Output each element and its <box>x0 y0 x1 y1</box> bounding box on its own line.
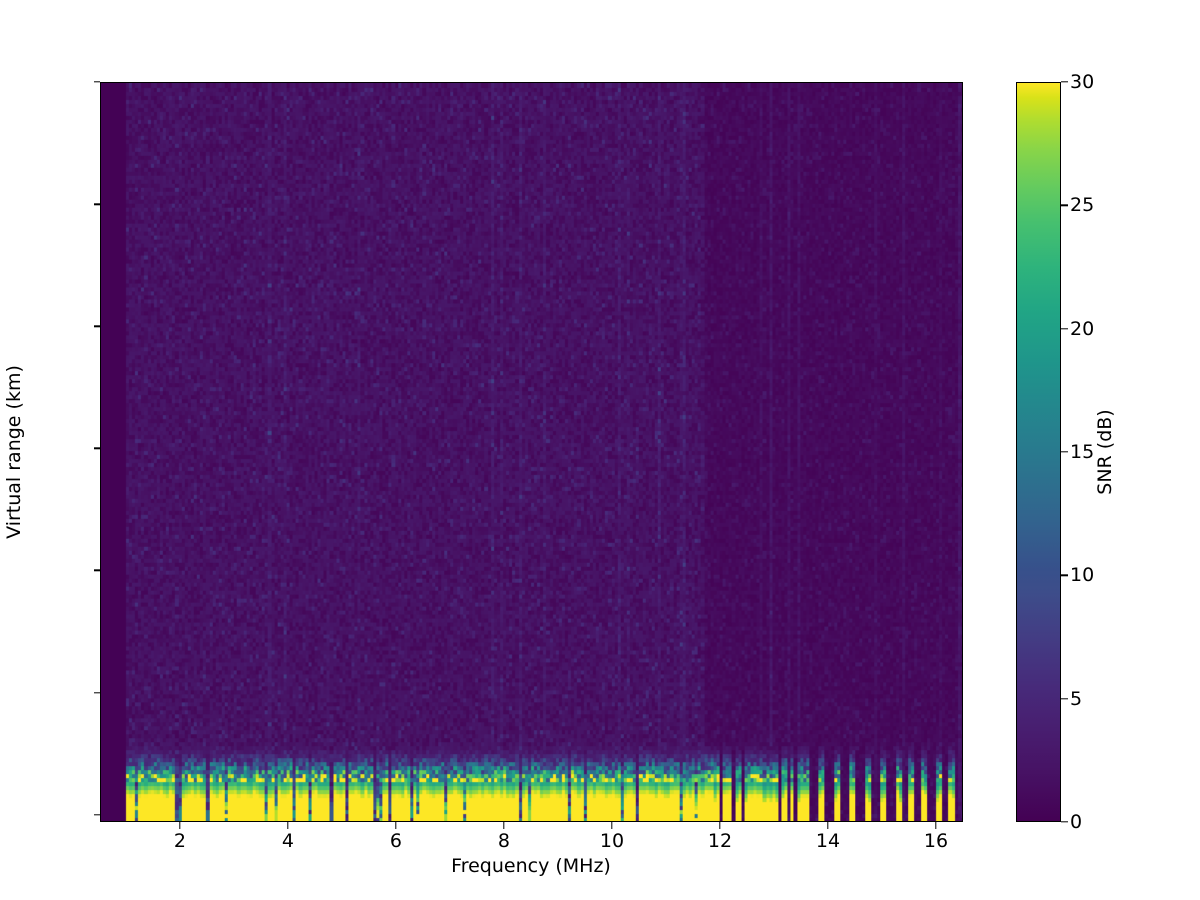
x-axis-label: Frequency (MHz) <box>451 855 611 877</box>
colorbar-tick-label-0: 0 <box>1070 811 1082 833</box>
x-tick-mark-16 <box>935 822 936 829</box>
colorbar-tick-label-30: 30 <box>1070 71 1094 93</box>
y-tick-mark-600 <box>94 81 101 82</box>
x-tick-mark-6 <box>395 822 396 829</box>
x-tick-label-4: 4 <box>282 830 294 852</box>
ionogram-heatmap-plot <box>100 82 963 822</box>
colorbar-tick-mark-30 <box>1061 81 1068 82</box>
x-tick-label-12: 12 <box>708 830 732 852</box>
colorbar-tick-mark-10 <box>1061 575 1068 576</box>
y-tick-mark-100 <box>94 692 101 693</box>
x-tick-label-14: 14 <box>816 830 840 852</box>
y-tick-mark-500 <box>94 203 101 204</box>
colorbar-tick-label-5: 5 <box>1070 688 1082 710</box>
colorbar-tick-mark-15 <box>1061 451 1068 452</box>
colorbar-tick-label-10: 10 <box>1070 564 1094 586</box>
y-tick-mark-0 <box>94 814 101 815</box>
colorbar-tick-label-25: 25 <box>1070 194 1094 216</box>
x-tick-mark-2 <box>179 822 180 829</box>
colorbar-tick-label-15: 15 <box>1070 441 1094 463</box>
x-tick-mark-4 <box>287 822 288 829</box>
colorbar-label: SNR (dB) <box>1094 409 1116 494</box>
y-tick-mark-400 <box>94 326 101 327</box>
x-tick-label-2: 2 <box>174 830 186 852</box>
y-tick-mark-300 <box>94 448 101 449</box>
colorbar-tick-mark-0 <box>1061 821 1068 822</box>
colorbar-tick-mark-20 <box>1061 328 1068 329</box>
x-tick-mark-8 <box>503 822 504 829</box>
colorbar <box>1016 82 1061 822</box>
colorbar-tick-mark-25 <box>1061 205 1068 206</box>
y-tick-mark-200 <box>94 570 101 571</box>
x-tick-mark-12 <box>719 822 720 829</box>
x-tick-label-10: 10 <box>600 830 624 852</box>
x-tick-label-16: 16 <box>924 830 948 852</box>
x-tick-mark-10 <box>611 822 612 829</box>
colorbar-tick-label-20: 20 <box>1070 318 1094 340</box>
colorbar-tick-mark-5 <box>1061 698 1068 699</box>
x-tick-label-6: 6 <box>390 830 402 852</box>
x-tick-label-8: 8 <box>498 830 510 852</box>
y-axis-label: Virtual range (km) <box>3 365 25 539</box>
heatmap-canvas <box>101 83 962 821</box>
x-tick-mark-14 <box>827 822 828 829</box>
